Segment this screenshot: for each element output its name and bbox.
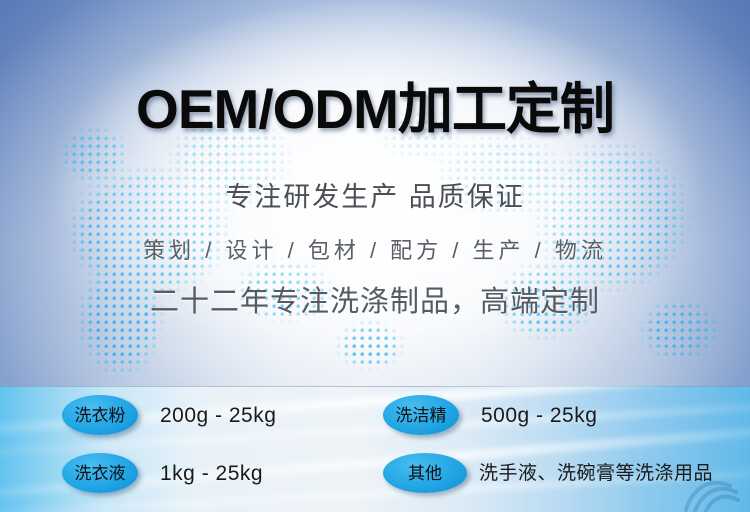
product-label-badge: 洗衣粉	[62, 395, 138, 435]
product-label-badge: 其他	[383, 453, 467, 493]
product-spec-text: 200g - 25kg	[160, 405, 276, 426]
product-row: 洗洁精 500g - 25kg	[383, 394, 597, 436]
services-list-text: 策划 / 设计 / 包材 / 配方 / 生产 / 物流	[0, 240, 750, 262]
promo-banner: OEM/ODM加工定制 专注研发生产 品质保证 策划 / 设计 / 包材 / 配…	[0, 0, 750, 512]
experience-text: 二十二年专注洗涤制品，高端定制	[0, 288, 750, 317]
product-spec-text: 洗手液、洗碗膏等洗涤用品	[479, 464, 713, 483]
product-row: 洗衣粉 200g - 25kg	[62, 394, 276, 436]
page-title: OEM/ODM加工定制	[0, 82, 750, 137]
product-row: 其他 洗手液、洗碗膏等洗涤用品	[383, 452, 713, 494]
product-label-badge: 洗衣液	[62, 453, 138, 493]
product-spec-band: 洗衣粉 200g - 25kg 洗衣液 1kg - 25kg 洗洁精 500g …	[0, 386, 750, 512]
product-row: 洗衣液 1kg - 25kg	[62, 452, 263, 494]
product-rows: 洗衣粉 200g - 25kg 洗衣液 1kg - 25kg 洗洁精 500g …	[0, 386, 750, 512]
product-label-badge: 洗洁精	[383, 395, 459, 435]
product-spec-text: 1kg - 25kg	[160, 463, 263, 484]
product-spec-text: 500g - 25kg	[481, 405, 597, 426]
tagline-text: 专注研发生产 品质保证	[0, 184, 750, 211]
